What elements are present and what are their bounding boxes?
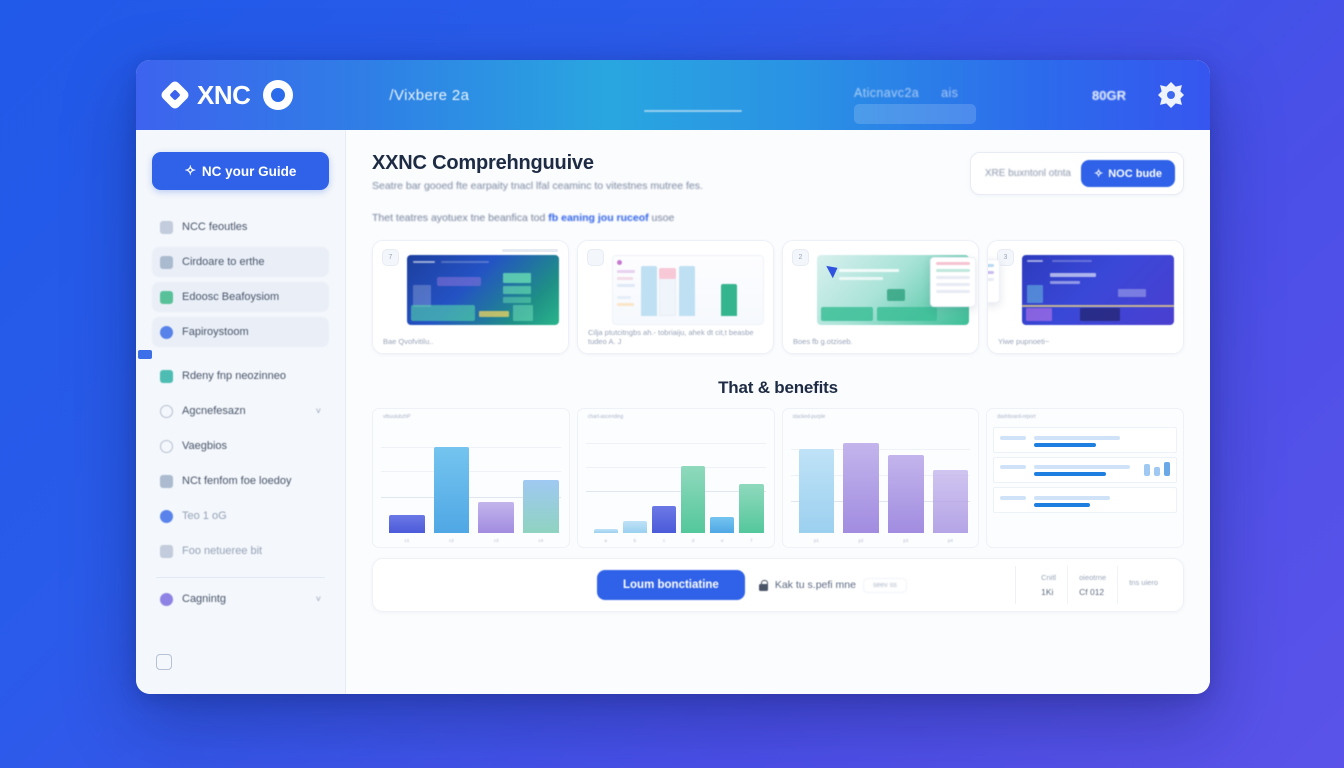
sidebar: ✧ NC your Guide NCC feoutles Cirdoare to…	[136, 130, 346, 694]
bar-2	[652, 506, 676, 533]
sidebar-item-label: Teo 1 oG	[182, 510, 321, 522]
bar-3	[681, 466, 705, 533]
bar-2	[888, 455, 924, 533]
x-label: c3	[478, 538, 514, 543]
summary-table: Cnitl 1Ki oieotrne Cf 012 tns uiero	[1015, 566, 1169, 604]
sidebar-item-label: Vaegbios	[182, 440, 321, 452]
nav-item-1[interactable]: ais	[941, 86, 958, 100]
sidebar-item-label: Agcnefesazn	[182, 405, 307, 417]
secondary-cta[interactable]: Kak tu s.pefi mne seev ss	[759, 578, 907, 593]
sidebar-accent-tag	[138, 350, 152, 359]
compass-icon	[160, 221, 173, 234]
sidebar-item-9[interactable]: Foo netueree bit	[152, 536, 329, 566]
column-value: 1Ki	[1041, 587, 1056, 597]
card-caption: Cilja ptutcitngbs ah.- tobriaiju, ahek d…	[588, 328, 773, 346]
brand[interactable]: XNC	[162, 80, 293, 111]
sidebar-item-10[interactable]: Cagnintg ˅	[152, 584, 329, 614]
card-badge: 7	[382, 249, 399, 266]
brand-name: XNC	[197, 80, 250, 111]
sparkle-icon: ✧	[185, 163, 196, 179]
column-header: tns uiero	[1129, 578, 1158, 587]
sidebar-cta-label: NC your Guide	[202, 164, 297, 179]
kicker-suffix: usoe	[649, 212, 675, 224]
chart-title: stacked-purple	[793, 414, 826, 420]
sidebar-footer	[152, 654, 329, 694]
sidebar-item-4[interactable]: Rdeny fnp neozinneo	[152, 361, 329, 391]
sidebar-divider	[156, 577, 325, 578]
top-navigation-secondary[interactable]: Aticnavc2a ais	[854, 86, 958, 100]
chart-x-labels: a b c d e f	[594, 538, 764, 543]
app-body: ✧ NC your Guide NCC feoutles Cirdoare to…	[136, 130, 1210, 694]
user-badge-icon[interactable]	[1158, 82, 1184, 108]
secondary-cta-label: Kak tu s.pefi mne	[775, 579, 856, 591]
header-actions: XRE buxntonl otnta ✧ NOC bude	[970, 152, 1184, 195]
card-badge	[587, 249, 604, 266]
brand-dot-icon	[263, 80, 293, 110]
chart-x-labels: p1 p2 p3 p4	[799, 538, 969, 543]
chevron-down-icon[interactable]: ˅	[316, 594, 321, 604]
collapse-icon[interactable]	[156, 654, 172, 670]
x-label: d	[681, 538, 705, 543]
bottom-action-bar: Loum bonctiatine Kak tu s.pefi mne seev …	[372, 558, 1184, 612]
dashboard-row-2	[993, 487, 1177, 513]
page-header-text: XXNC Comprehnguuive Seatre bar gooed fte…	[372, 152, 703, 224]
feature-card-2[interactable]: 2 Boes fb g.otziseb.	[782, 240, 979, 354]
page-title: XXNC Comprehnguuive	[372, 152, 703, 175]
sidebar-item-3[interactable]: Fapiroystoom	[152, 317, 329, 347]
top-right-text[interactable]: 80GR	[1092, 88, 1126, 103]
feature-cards: 7 Bae Qvofvitilu..	[372, 240, 1184, 354]
card-topline	[502, 249, 558, 252]
leaf-icon	[160, 291, 173, 304]
page-header: XXNC Comprehnguuive Seatre bar gooed fte…	[372, 152, 1184, 224]
table-icon	[160, 475, 173, 488]
floating-note-card	[930, 257, 976, 307]
sidebar-item-2[interactable]: Edoosc Beafoysiom	[152, 282, 329, 312]
sidebar-item-label: Fapiroystoom	[182, 326, 321, 338]
x-label: e	[710, 538, 734, 543]
light-bars-thumbnail	[612, 255, 764, 325]
sidebar-nav-list: NCC feoutles Cirdoare to erthe Edoosc Be…	[152, 212, 329, 619]
x-label: c4	[523, 538, 559, 543]
diamond-logo-icon	[162, 82, 188, 108]
top-navigation[interactable]: /Vixbere 2a	[389, 87, 469, 104]
bar-2	[478, 502, 514, 533]
chart-2[interactable]: stacked-purple p1 p2 p3 p4	[782, 408, 980, 548]
chart-1[interactable]: chart-ascending a b	[577, 408, 775, 548]
feature-card-3[interactable]: 3	[987, 240, 1184, 354]
chart-x-labels: c1 c2 c3 c4	[389, 538, 559, 543]
bar-0	[389, 515, 425, 533]
x-label: p1	[799, 538, 835, 543]
bar-1	[623, 521, 647, 533]
summary-column-0: Cnitl 1Ki	[1030, 566, 1068, 604]
nav-active-pill	[854, 104, 976, 124]
leaf-icon	[160, 370, 173, 383]
lock-icon	[759, 580, 768, 591]
feature-card-1[interactable]: Cilja ptutcitngbs ah.- tobriaiju, ahek d…	[577, 240, 774, 354]
primary-cta-button[interactable]: Loum bonctiatine	[597, 570, 745, 600]
dashboard-row-0	[993, 427, 1177, 453]
sidebar-item-6[interactable]: Vaegbios	[152, 431, 329, 461]
sidebar-item-label: Cirdoare to erthe	[182, 256, 321, 268]
sidebar-item-label: Cagnintg	[182, 593, 307, 605]
sidebar-item-5[interactable]: Agcnefesazn ˅	[152, 396, 329, 426]
header-guide-button[interactable]: ✧ NOC bude	[1081, 160, 1175, 187]
feature-card-0[interactable]: 7 Bae Qvofvitilu..	[372, 240, 569, 354]
sidebar-item-label: Rdeny fnp neozinneo	[182, 370, 321, 382]
x-label: c1	[389, 538, 425, 543]
top-bar: XNC /Vixbere 2a Aticnavc2a ais 80GR	[136, 60, 1210, 130]
column-header: oieotrne	[1079, 573, 1106, 582]
chart-title: chart-ascending	[588, 414, 624, 420]
circle-icon	[160, 440, 173, 453]
summary-column-1: oieotrne Cf 012	[1068, 566, 1118, 604]
summary-column-2: tns uiero	[1118, 566, 1169, 604]
x-label: p2	[843, 538, 879, 543]
sidebar-item-0[interactable]: NCC feoutles	[152, 212, 329, 242]
bar-0	[594, 529, 618, 533]
top-bar-right: 80GR	[1092, 82, 1184, 108]
main-content: XXNC Comprehnguuive Seatre bar gooed fte…	[346, 130, 1210, 694]
chart-bars	[594, 431, 764, 533]
chart-bars	[389, 431, 559, 533]
page-kicker: Thet teatres ayotuex tne beanfica tod fb…	[372, 212, 703, 224]
kicker-link[interactable]: fb eaning jou ruceof	[548, 212, 648, 224]
dot-icon	[160, 510, 173, 523]
dashboard-row-1	[993, 457, 1177, 483]
sidebar-item-8[interactable]: Teo 1 oG	[152, 501, 329, 531]
app-window: XNC /Vixbere 2a Aticnavc2a ais 80GR ✧ NC…	[136, 60, 1210, 694]
benefits-title: That & benefits	[372, 378, 1184, 398]
chart-0[interactable]: vtbuulubzhP c1 c2 c3 c4	[372, 408, 570, 548]
indigo-dashboard-thumbnail	[1022, 255, 1174, 325]
bar-5	[739, 484, 763, 533]
bar-3	[933, 470, 969, 533]
charts-row: vtbuulubzhP c1 c2 c3 c4	[372, 408, 1184, 548]
x-label: f	[739, 538, 763, 543]
sidebar-item-label: Edoosc Beafoysiom	[182, 291, 321, 303]
keypad-icon	[160, 545, 173, 558]
chevron-down-icon[interactable]: ˅	[316, 406, 321, 416]
column-value: Cf 012	[1079, 587, 1106, 597]
x-label: p4	[933, 538, 969, 543]
x-label: p3	[888, 538, 924, 543]
chart-bars	[799, 431, 969, 533]
card-caption: Boes fb g.otziseb.	[793, 337, 853, 346]
floating-note-card	[987, 259, 1000, 303]
sidebar-item-1[interactable]: Cirdoare to erthe	[152, 247, 329, 277]
nav-underline	[644, 110, 742, 112]
sidebar-item-label: NCC feoutles	[182, 221, 321, 233]
card-badge: 2	[792, 249, 809, 266]
nav-item-0[interactable]: Aticnavc2a	[854, 86, 919, 100]
chart-title: dashboard-report	[997, 414, 1035, 420]
bar-3	[523, 480, 559, 533]
header-guide-label: NOC bude	[1108, 168, 1162, 180]
x-label: c	[652, 538, 676, 543]
grid-icon	[160, 256, 173, 269]
chart-3[interactable]: dashboard-report	[986, 408, 1184, 548]
bar-1	[843, 443, 879, 533]
dark-dashboard-thumbnail	[407, 255, 559, 325]
sidebar-item-7[interactable]: NCt fenfom foe loedoy	[152, 466, 329, 496]
clock-icon	[160, 405, 173, 418]
sidebar-item-label: NCt fenfom foe loedoy	[182, 475, 321, 487]
secondary-chip: seev ss	[863, 578, 907, 593]
bar-0	[799, 449, 835, 533]
x-label: c2	[434, 538, 470, 543]
x-label: a	[594, 538, 618, 543]
card-caption: Yiwe pupnoeti~	[998, 337, 1049, 346]
header-note: XRE buxntonl otnta	[985, 168, 1071, 179]
column-header: Cnitl	[1041, 573, 1056, 582]
sidebar-cta-button[interactable]: ✧ NC your Guide	[152, 152, 329, 190]
chart-title: vtbuulubzhP	[383, 414, 411, 420]
card-caption: Bae Qvofvitilu..	[383, 337, 433, 346]
sparkle-icon: ✧	[1094, 167, 1103, 180]
bar-1	[434, 447, 470, 533]
page-subtitle: Seatre bar gooed fte earpaity tnacl lfal…	[372, 180, 703, 192]
globe-icon	[160, 326, 173, 339]
kicker-prefix: Thet teatres ayotuex tne beanfica tod	[372, 212, 548, 224]
sidebar-item-label: Foo netueree bit	[182, 545, 321, 557]
nav-item-lead[interactable]: /Vixbere 2a	[389, 87, 469, 104]
globe-icon	[160, 593, 173, 606]
bar-4	[710, 517, 734, 533]
x-label: b	[623, 538, 647, 543]
